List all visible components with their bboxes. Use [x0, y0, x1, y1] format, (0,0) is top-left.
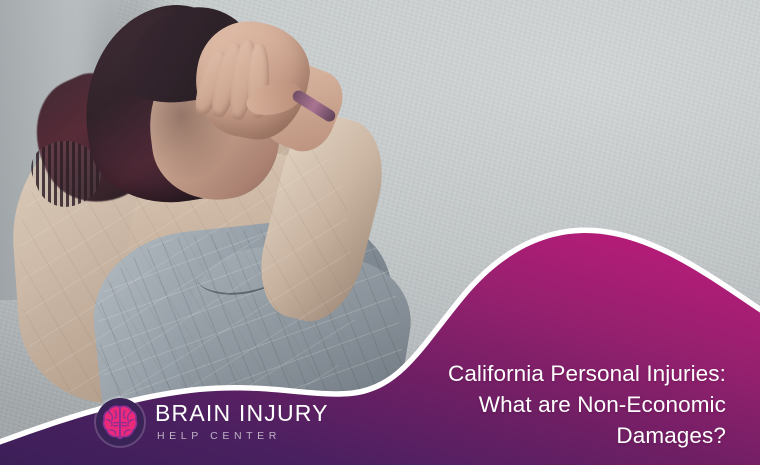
brand-wordmark: BRAIN INJURY HELP CENTER [155, 402, 329, 442]
brand-logo[interactable]: BRAIN INJURY HELP CENTER [96, 398, 329, 446]
headline-line-1: California Personal Injuries: [366, 358, 726, 389]
headline-line-3: Damages? [366, 420, 726, 451]
brand-name: BRAIN INJURY [155, 402, 329, 425]
headline-line-2: What are Non-Economic [366, 389, 726, 420]
brain-icon-glyph [100, 402, 140, 442]
hero-banner: California Personal Injuries: What are N… [0, 0, 760, 465]
brand-tagline: HELP CENTER [157, 431, 329, 442]
brain-icon [96, 398, 144, 446]
page-title: California Personal Injuries: What are N… [366, 358, 726, 451]
